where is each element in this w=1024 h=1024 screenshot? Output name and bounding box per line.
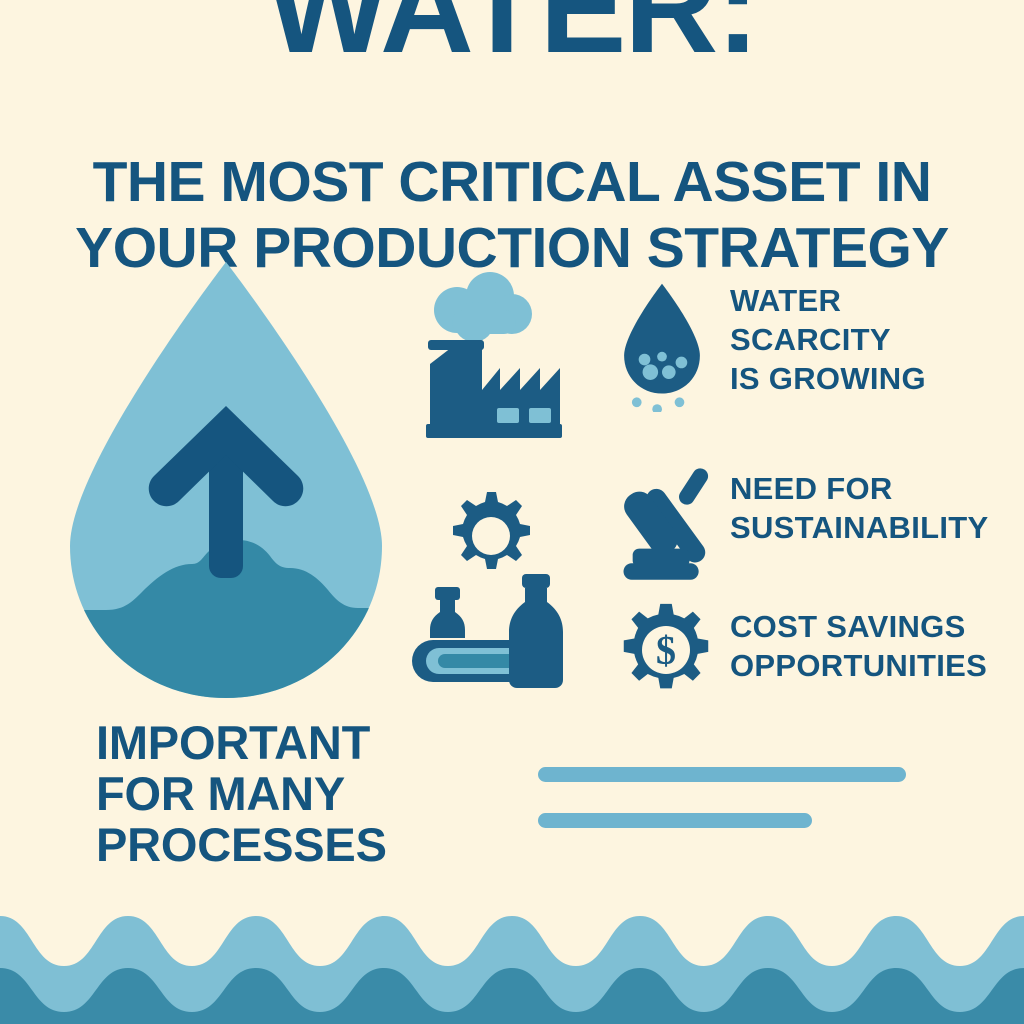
page-title: WATER: — [0, 0, 1024, 72]
benefit-3-line-2: OPPORTUNITIES — [730, 647, 1018, 686]
list-item[interactable]: $ COST SAVINGS OPPORTUNITIES — [618, 594, 1018, 698]
headline-block: WATER: — [0, 0, 1024, 72]
benefit-1-line-1: WATER — [730, 282, 1018, 321]
dollar-sign-glyph: $ — [656, 628, 676, 673]
gear-dollar-icon: $ — [618, 594, 730, 698]
caption-line-3: PROCESSES — [96, 820, 387, 871]
caption-line-1: IMPORTANT — [96, 718, 387, 769]
tall-bottle-icon — [509, 574, 563, 688]
small-bottle-icon — [430, 587, 465, 638]
decorative-bar-long — [538, 767, 906, 782]
benefit-text-3: COST SAVINGS OPPORTUNITIES — [730, 594, 1018, 686]
water-droplet-icon — [618, 276, 730, 412]
hero-water-drop-icon — [66, 258, 386, 702]
gavel-icon — [618, 458, 730, 582]
factory-smokestack-icon — [412, 272, 592, 472]
list-item[interactable]: WATER SCARCITY IS GROWING — [618, 276, 1018, 412]
benefit-3-line-1: COST SAVINGS — [730, 608, 1018, 647]
gear-and-bottles-conveyor-icon — [405, 486, 590, 696]
caption-line-2: FOR MANY — [96, 769, 387, 820]
conveyor-belt-icon — [412, 640, 523, 682]
benefit-text-1: WATER SCARCITY IS GROWING — [730, 276, 1018, 398]
benefit-2-line-1: NEED FOR — [730, 470, 1018, 509]
smoke-cloud-icon — [434, 272, 532, 342]
list-item[interactable]: NEED FOR SUSTAINABILITY — [618, 458, 1018, 582]
gear-icon — [453, 492, 530, 569]
hero-caption: IMPORTANT FOR MANY PROCESSES — [96, 718, 387, 870]
benefit-1-line-3: IS GROWING — [730, 360, 1018, 399]
benefit-2-line-2: SUSTAINABILITY — [730, 509, 1018, 548]
subtitle-line-1: THE MOST CRITICAL ASSET IN — [0, 150, 1024, 216]
decorative-bar-short — [538, 813, 812, 828]
benefit-text-2: NEED FOR SUSTAINABILITY — [730, 458, 1018, 548]
infographic-poster: WATER: THE MOST CRITICAL ASSET IN YOUR P… — [0, 0, 1024, 1024]
bottom-wave-decoration — [0, 888, 1024, 1024]
benefit-1-line-2: SCARCITY — [730, 321, 1018, 360]
